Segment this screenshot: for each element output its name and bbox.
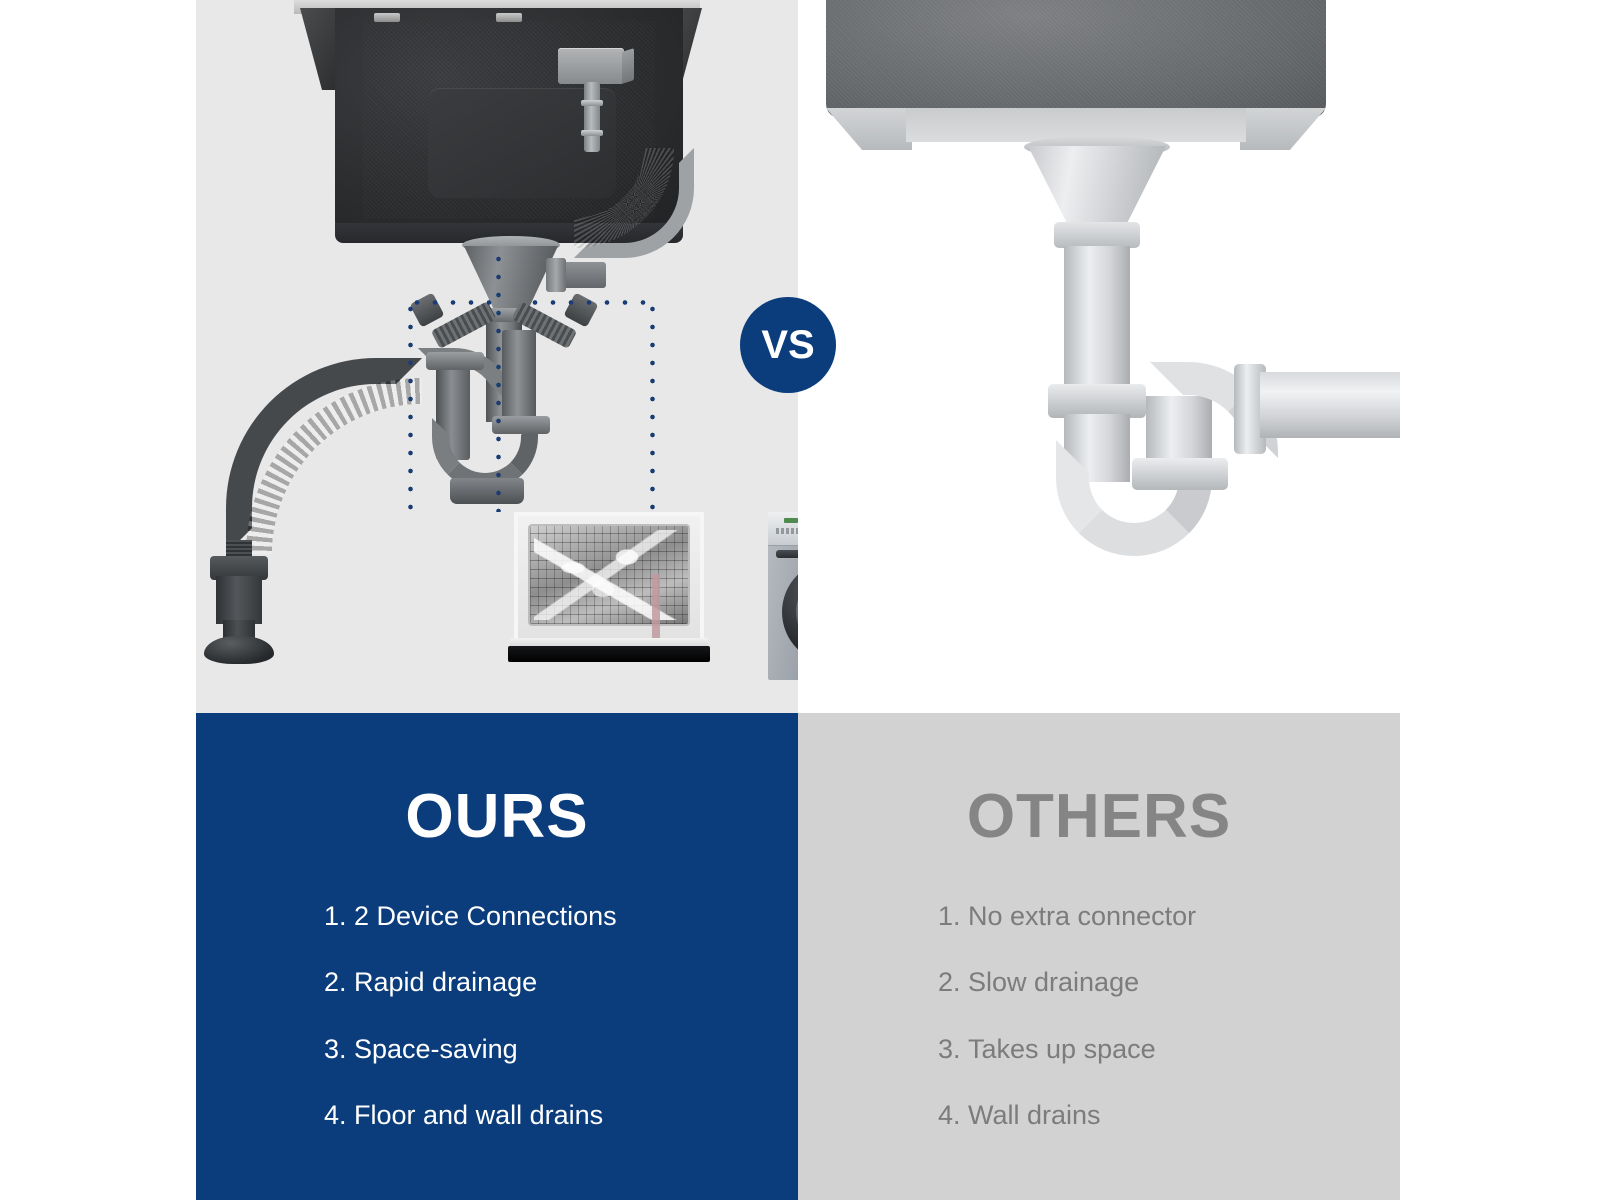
list-item-label: Space-saving	[354, 1034, 518, 1064]
list-item: 3.Takes up space	[938, 1033, 1400, 1065]
list-item-label: Slow drainage	[968, 967, 1139, 997]
connector-dotted-line-left-horizontal	[408, 300, 496, 305]
washing-machine-appliance	[768, 512, 798, 680]
ours-text-panel: OURS 1.2 Device Connections 2.Rapid drai…	[196, 713, 798, 1200]
sink-flange-left	[300, 8, 340, 90]
power-led-icon	[784, 518, 798, 523]
overflow-box	[558, 48, 624, 84]
list-item-label: Rapid drainage	[354, 967, 537, 997]
vs-badge: VS	[740, 297, 836, 393]
list-item-label: No extra connector	[968, 901, 1196, 931]
pipe-collar	[1054, 222, 1140, 248]
appliance-inlet-cap	[409, 292, 444, 327]
overflow-port-nut	[546, 258, 566, 292]
connector-dotted-line-right-horizontal	[526, 300, 654, 305]
dishwasher-dishes	[534, 530, 684, 620]
list-item-label: Wall drains	[968, 1100, 1101, 1130]
list-item-label: 2 Device Connections	[354, 901, 617, 931]
overflow-pipe	[584, 82, 600, 152]
sink-skirt-right	[1240, 108, 1326, 150]
comparison-infographic: VS OURS 1.2 Device Connections 2.Rapid d…	[0, 0, 1600, 1200]
list-item-number: 2.	[938, 966, 968, 998]
dishwasher-appliance	[514, 512, 704, 662]
appliance-inlet-cap	[563, 292, 598, 327]
others-plumbing-diagram	[798, 0, 1400, 713]
sink-mount-screw	[496, 13, 522, 22]
list-item-number: 4.	[324, 1099, 354, 1131]
others-feature-list: 1.No extra connector 2.Slow drainage 3.T…	[798, 900, 1400, 1132]
dishwasher-frame	[514, 512, 704, 644]
corrugated-floor-drain-hose	[226, 358, 422, 554]
sink-basin	[826, 0, 1326, 118]
list-item-number: 1.	[938, 900, 968, 932]
p-trap-nut	[426, 352, 484, 370]
list-item-label: Floor and wall drains	[354, 1100, 603, 1130]
overflow-pipe-ring	[581, 130, 603, 136]
list-item-number: 3.	[938, 1033, 968, 1065]
others-title: OTHERS	[798, 781, 1400, 852]
dishwasher-utensil	[652, 574, 660, 638]
washing-machine-handle	[776, 550, 798, 558]
connector-dotted-line-left-vertical	[408, 300, 413, 514]
dishwasher-rack-cavity	[528, 524, 690, 626]
eco-label	[776, 528, 798, 534]
list-item: 2.Slow drainage	[938, 966, 1400, 998]
pipe-nut	[1048, 384, 1146, 418]
ours-plumbing-diagram	[196, 0, 798, 713]
list-item: 4.Wall drains	[938, 1099, 1400, 1131]
list-item-number: 1.	[324, 900, 354, 932]
washing-machine-control-panel	[768, 512, 798, 546]
others-illustration-panel	[798, 0, 1400, 713]
dishwasher-base	[508, 646, 710, 662]
list-item-number: 2.	[324, 966, 354, 998]
list-item-number: 4.	[938, 1099, 968, 1131]
p-trap-outlet-leg	[502, 330, 536, 430]
ours-illustration-panel	[196, 0, 798, 713]
list-item: 1.No extra connector	[938, 900, 1400, 932]
list-item: 3.Space-saving	[324, 1033, 798, 1065]
floor-drain-cup	[204, 636, 274, 664]
floor-drain-adapter	[216, 576, 262, 624]
sink-mount-screw	[374, 13, 400, 22]
ours-feature-list: 1.2 Device Connections 2.Rapid drainage …	[196, 900, 798, 1132]
list-item-number: 3.	[324, 1033, 354, 1065]
others-text-panel: OTHERS 1.No extra connector 2.Slow drain…	[798, 713, 1400, 1200]
list-item: 1.2 Device Connections	[324, 900, 798, 932]
connector-dotted-line-center	[496, 250, 501, 512]
list-item: 2.Rapid drainage	[324, 966, 798, 998]
p-trap-nut	[1132, 458, 1228, 490]
list-item: 4.Floor and wall drains	[324, 1099, 798, 1131]
drain-funnel	[1028, 146, 1166, 228]
down-pipe	[1064, 246, 1130, 398]
ours-title: OURS	[196, 781, 798, 852]
vs-badge-label: VS	[761, 323, 814, 368]
list-item-label: Takes up space	[968, 1034, 1156, 1064]
p-trap-outlet	[450, 478, 524, 504]
sink-skirt-left	[826, 108, 912, 150]
connector-dotted-line-right-vertical	[650, 300, 655, 514]
overflow-pipe-ring	[581, 100, 603, 106]
wall-drain-pipe	[1260, 372, 1400, 438]
